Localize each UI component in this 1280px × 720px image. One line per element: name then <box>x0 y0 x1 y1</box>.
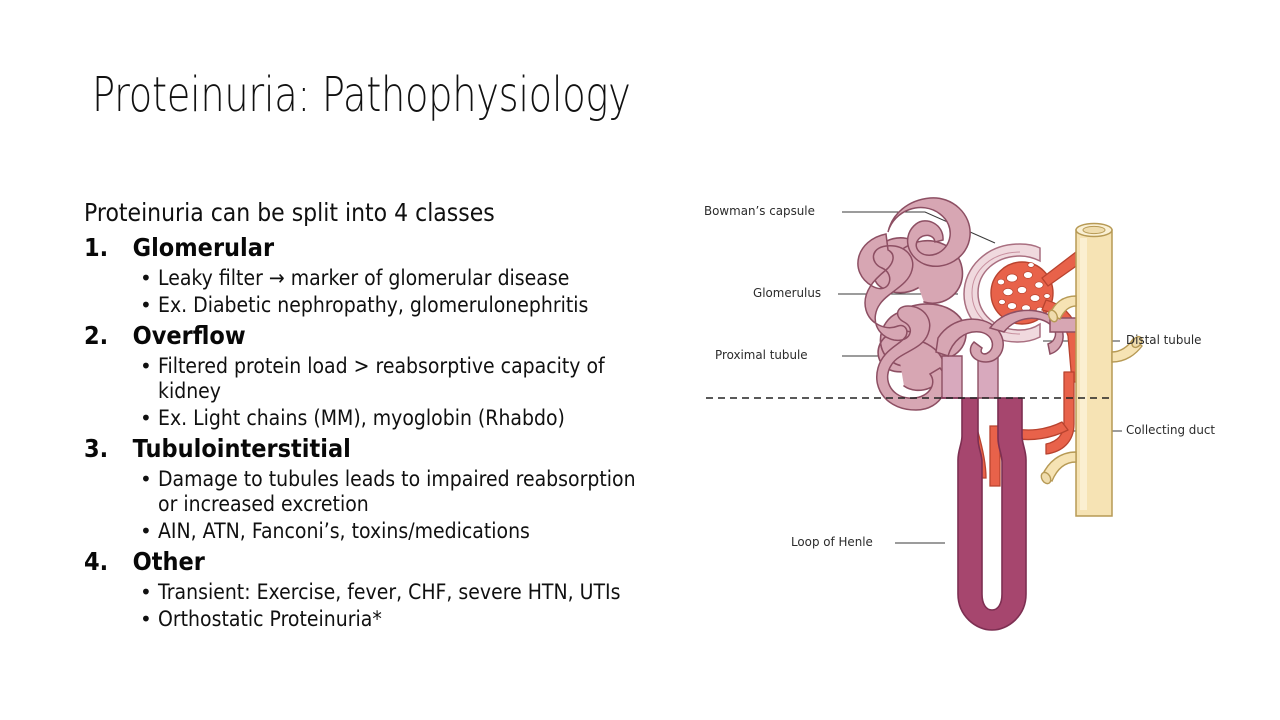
loop-of-henle <box>942 356 1026 630</box>
nephron-illustration <box>690 186 1270 656</box>
bullet-text: Damage to tubules leads to impaired reab… <box>158 467 649 517</box>
class-bullets-2: • Filtered protein load > reabsorptive c… <box>84 354 704 431</box>
list-item: • Ex. Diabetic nephropathy, glomerulonep… <box>84 293 704 318</box>
bullet-dot-icon: • <box>140 519 152 544</box>
page-title: Proteinuria: Pathophysiology <box>92 66 631 124</box>
bullet-dot-icon: • <box>140 266 152 291</box>
content-body: Proteinuria can be split into 4 classes … <box>84 196 704 632</box>
list-item: • AIN, ATN, Fanconi’s, toxins/medication… <box>84 519 704 544</box>
class-number-1: 1. <box>84 232 120 264</box>
bullet-text: Filtered protein load > reabsorptive cap… <box>158 354 649 404</box>
nephron-diagram: Bowman’s capsule Glomerulus Proximal tub… <box>690 186 1270 656</box>
list-item: • Leaky filter → marker of glomerular di… <box>84 266 704 291</box>
bullet-text: AIN, ATN, Fanconi’s, toxins/medications <box>158 519 649 544</box>
henle-descending-ascending <box>942 398 1026 630</box>
list-item: • Filtered protein load > reabsorptive c… <box>84 354 704 404</box>
class-name-3: Tubulointerstitial <box>133 434 351 463</box>
lead-text: Proteinuria can be split into 4 classes <box>84 196 630 229</box>
list-item: • Transient: Exercise, fever, CHF, sever… <box>84 580 704 605</box>
bullet-dot-icon: • <box>140 293 152 318</box>
label-glomerulus: Glomerulus <box>753 285 821 300</box>
class-bullets-4: • Transient: Exercise, fever, CHF, sever… <box>84 580 704 632</box>
label-distal-tubule: Distal tubule <box>1126 332 1201 347</box>
bullet-dot-icon: • <box>140 406 152 431</box>
bullet-dot-icon: • <box>140 467 152 492</box>
bullet-text: Orthostatic Proteinuria* <box>158 607 649 632</box>
class-heading-4: 4.Other <box>84 546 642 578</box>
class-number-2: 2. <box>84 320 120 352</box>
class-number-4: 4. <box>84 546 120 578</box>
class-heading-2: 2.Overflow <box>84 320 642 352</box>
label-collecting-duct: Collecting duct <box>1126 422 1215 437</box>
class-name-2: Overflow <box>133 321 246 350</box>
duct-lumen <box>1083 226 1105 233</box>
list-item: • Damage to tubules leads to impaired re… <box>84 467 704 517</box>
bullet-text: Ex. Light chains (MM), myoglobin (Rhabdo… <box>158 406 649 431</box>
bullet-text: Transient: Exercise, fever, CHF, severe … <box>158 580 649 605</box>
class-item-3: 3.Tubulointerstitial • Damage to tubules… <box>84 433 704 544</box>
bullet-text: Ex. Diabetic nephropathy, glomerulonephr… <box>158 293 649 318</box>
class-item-2: 2.Overflow • Filtered protein load > rea… <box>84 320 704 431</box>
bullet-dot-icon: • <box>140 607 152 632</box>
list-item: • Ex. Light chains (MM), myoglobin (Rhab… <box>84 406 704 431</box>
list-item: • Orthostatic Proteinuria* <box>84 607 704 632</box>
class-name-1: Glomerular <box>133 233 274 262</box>
label-proximal-tubule: Proximal tubule <box>715 347 808 362</box>
bullet-text: Leaky filter → marker of glomerular dise… <box>158 266 649 291</box>
class-number-3: 3. <box>84 433 120 465</box>
class-heading-3: 3.Tubulointerstitial <box>84 433 642 465</box>
class-bullets-3: • Damage to tubules leads to impaired re… <box>84 467 704 544</box>
class-item-1: 1.Glomerular • Leaky filter → marker of … <box>84 232 704 318</box>
henle-upper-left <box>942 356 962 398</box>
class-heading-1: 1.Glomerular <box>84 232 642 264</box>
bullet-dot-icon: • <box>140 580 152 605</box>
label-loop-of-henle: Loop of Henle <box>791 534 873 549</box>
slide-canvas: Proteinuria: Pathophysiology Proteinuria… <box>0 0 1280 720</box>
class-item-4: 4.Other • Transient: Exercise, fever, CH… <box>84 546 704 632</box>
label-bowmans-capsule: Bowman’s capsule <box>704 203 815 218</box>
class-bullets-1: • Leaky filter → marker of glomerular di… <box>84 266 704 318</box>
class-name-4: Other <box>133 547 205 576</box>
duct-highlight <box>1080 238 1087 510</box>
bullet-dot-icon: • <box>140 354 152 379</box>
